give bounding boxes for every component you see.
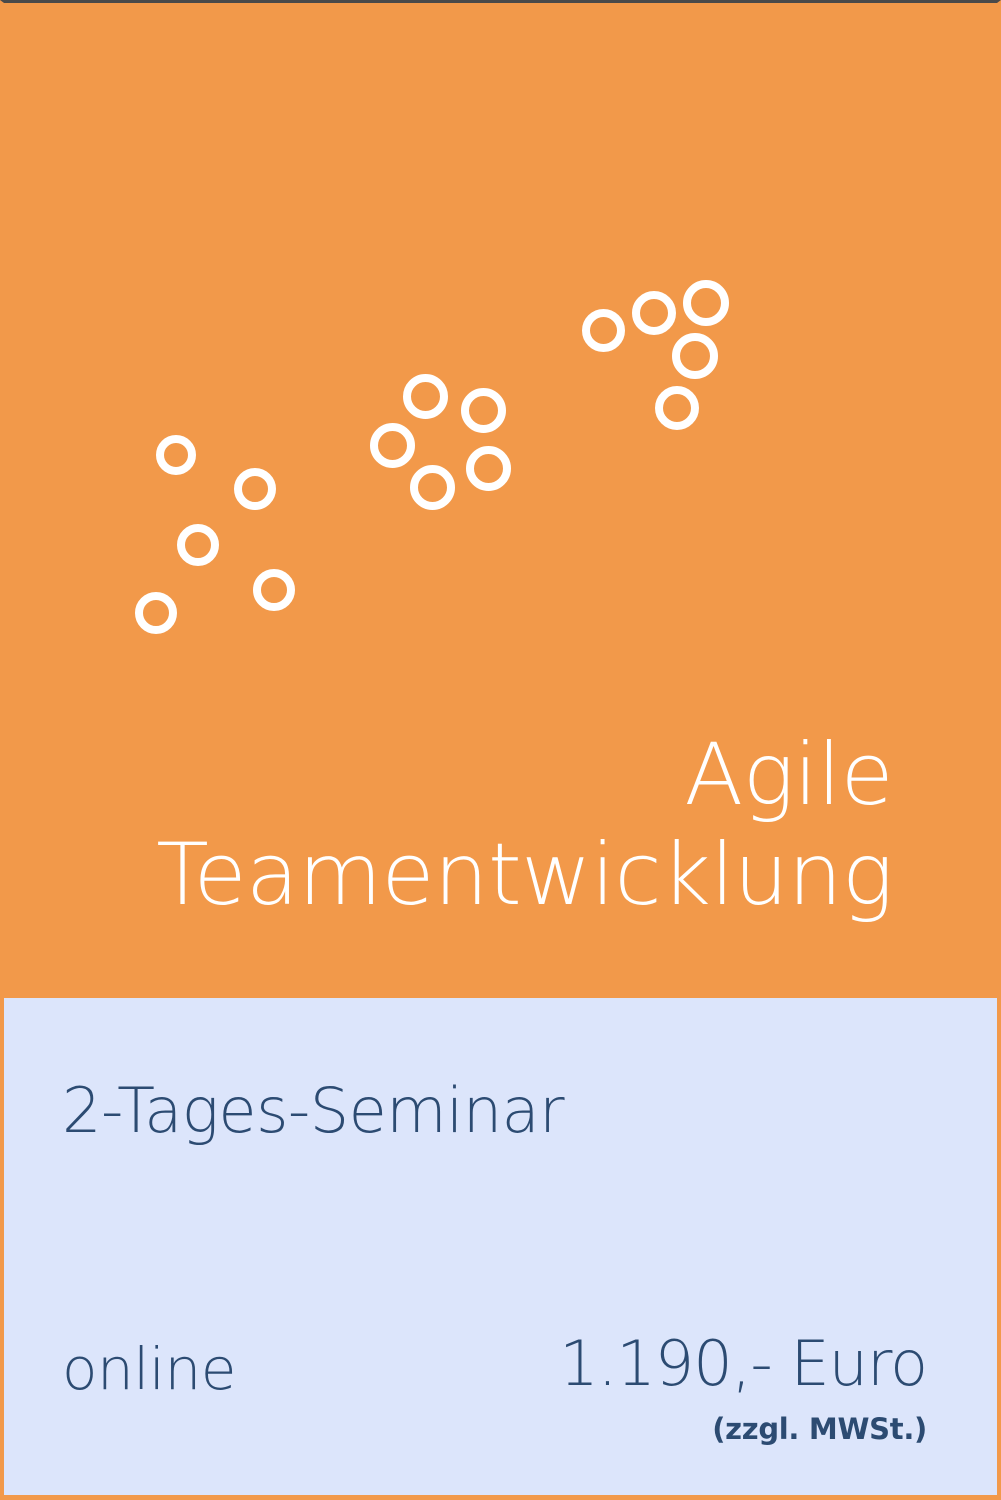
circle-left-4-icon: [253, 569, 295, 611]
circle-right-3-icon: [683, 280, 729, 326]
circle-mid-5-icon: [410, 465, 455, 510]
seminar-format-label: online: [62, 1336, 236, 1402]
info-band: 2-Tages-Seminar online 1.190,- Euro (zzg…: [4, 998, 997, 1495]
seminar-type-label: 2-Tages-Seminar: [62, 1076, 564, 1146]
title-line-2: Teamentwicklung: [53, 825, 893, 925]
price-tax-note: (zzgl. MWSt.): [559, 1412, 927, 1446]
circle-right-4-icon: [672, 333, 718, 379]
circle-right-2-icon: [632, 291, 676, 335]
hero-band: Agile Teamentwicklung: [4, 3, 997, 998]
circle-left-5-icon: [135, 592, 177, 634]
circle-right-1-icon: [582, 309, 625, 352]
circle-right-5-icon: [655, 386, 699, 430]
circle-left-3-icon: [177, 524, 219, 566]
circle-left-2-icon: [234, 468, 276, 510]
seminar-poster: Agile Teamentwicklung 2-Tages-Seminar on…: [0, 0, 1001, 1500]
price-amount: 1.190,- Euro: [559, 1328, 927, 1400]
circle-mid-4-icon: [466, 446, 511, 491]
circle-mid-3-icon: [370, 423, 415, 468]
circle-left-1-icon: [156, 435, 196, 475]
price-block: 1.190,- Euro (zzgl. MWSt.): [559, 1328, 927, 1446]
page-title: Agile Teamentwicklung: [53, 725, 893, 925]
circle-mid-2-icon: [461, 388, 506, 433]
title-line-1: Agile: [53, 725, 893, 825]
circle-mid-1-icon: [403, 374, 448, 419]
